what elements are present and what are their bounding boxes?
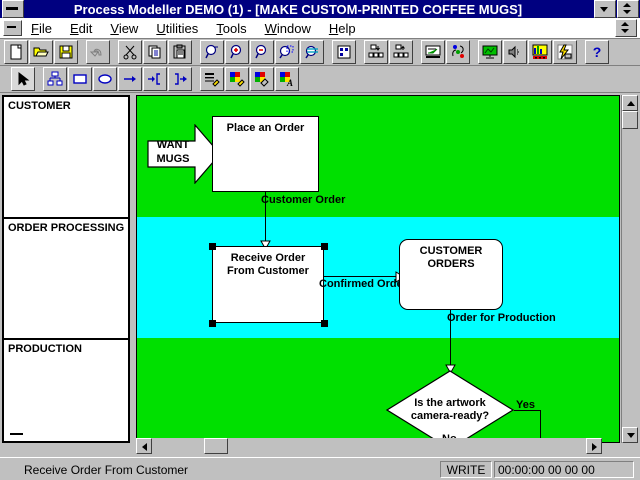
customer-orders-label: CUSTOMER ORDERS: [420, 245, 483, 271]
zoom-normal-icon[interactable]: [200, 40, 224, 64]
confirmed-order-edge-line[interactable]: [324, 276, 404, 277]
save-floppy-icon[interactable]: [54, 40, 78, 64]
band-production: [137, 338, 619, 442]
status-time: 00:00:00 00 00 00: [494, 461, 634, 478]
zoom-out-icon[interactable]: [250, 40, 274, 64]
scroll-right-arrow-icon: [592, 443, 597, 451]
rectangle-shape-icon[interactable]: [68, 67, 92, 91]
toolbar-primary: ?: [0, 39, 640, 66]
window-title: Process Modeller DEMO (1) - [MAKE CUSTOM…: [2, 2, 594, 17]
scroll-down-button[interactable]: [622, 427, 638, 443]
customer-order-label: Customer Order: [261, 194, 345, 206]
fill-color-icon[interactable]: [250, 67, 274, 91]
toolbar-drawing: A: [0, 66, 640, 93]
title-bar: Process Modeller DEMO (1) - [MAKE CUSTOM…: [0, 0, 640, 18]
link-out-icon[interactable]: [168, 67, 192, 91]
place-an-order-node[interactable]: Place an Order: [212, 116, 319, 192]
new-document-icon[interactable]: [4, 40, 28, 64]
minimize-button[interactable]: [594, 0, 616, 18]
page-layout-icon[interactable]: [332, 40, 356, 64]
child-restore-button[interactable]: [615, 19, 637, 37]
confirmed-order-label: Confirmed Order: [319, 278, 407, 290]
selection-handle-br[interactable]: [321, 320, 328, 327]
paste-clipboard-icon[interactable]: [168, 40, 192, 64]
status-bar: Receive Order From Customer WRITE 00:00:…: [0, 457, 640, 480]
lane-label-production[interactable]: PRODUCTION: [4, 340, 128, 440]
cut-scissors-icon[interactable]: [118, 40, 142, 64]
ellipse-shape-icon[interactable]: [93, 67, 117, 91]
decision-yes-label: Yes: [516, 399, 535, 411]
presentation-screen-icon[interactable]: [478, 40, 502, 64]
status-message: Receive Order From Customer: [4, 461, 438, 478]
zoom-selection-icon[interactable]: [275, 40, 299, 64]
text-style-icon[interactable]: A: [275, 67, 299, 91]
application-window: Process Modeller DEMO (1) - [MAKE CUSTOM…: [0, 0, 640, 480]
lane-label-order-processing[interactable]: ORDER PROCESSING: [4, 219, 128, 339]
place-an-order-label: Place an Order: [227, 122, 305, 135]
pen-color-icon[interactable]: [225, 67, 249, 91]
animation-player-icon[interactable]: [528, 40, 552, 64]
zoom-in-icon[interactable]: [225, 40, 249, 64]
copy-pages-icon[interactable]: [143, 40, 167, 64]
menu-edit[interactable]: Edit: [61, 21, 101, 36]
receive-order-node[interactable]: Receive Order From Customer: [212, 246, 324, 323]
chart-report-icon[interactable]: [421, 40, 445, 64]
vertical-scrollbar[interactable]: [621, 95, 638, 443]
want-mugs-label: WANTMUGS: [149, 138, 197, 166]
want-mugs-arrow[interactable]: WANTMUGS: [147, 124, 222, 184]
diagram-canvas[interactable]: WANTMUGS Place an Order Customer Order R…: [136, 95, 620, 443]
vertical-scroll-track[interactable]: [622, 111, 638, 427]
undo-arrow-icon[interactable]: [86, 40, 110, 64]
menu-bar: File Edit View Utilities Tools Window He…: [0, 18, 640, 39]
menu-help[interactable]: Help: [320, 21, 365, 36]
selection-handle-tl[interactable]: [209, 243, 216, 250]
org-tree-icon[interactable]: [43, 67, 67, 91]
connector-arrow-icon[interactable]: [118, 67, 142, 91]
menu-view[interactable]: View: [101, 21, 147, 36]
swimlane-label-panel: CUSTOMER ORDER PROCESSING PRODUCTION: [2, 95, 130, 443]
scroll-down-arrow-icon: [627, 433, 635, 438]
link-in-icon[interactable]: [143, 67, 167, 91]
order-for-production-label: Order for Production: [447, 312, 556, 324]
vertical-scroll-thumb[interactable]: [622, 111, 638, 129]
scroll-up-arrow-icon: [627, 101, 635, 106]
menu-file[interactable]: File: [22, 21, 61, 36]
selection-handle-tr[interactable]: [321, 243, 328, 250]
artwork-decision-text: Is the artwork camera-ready?: [411, 397, 489, 423]
select-pointer-icon[interactable]: [11, 67, 35, 91]
customer-orders-node[interactable]: CUSTOMER ORDERS: [399, 239, 503, 310]
zoom-fit-icon[interactable]: [300, 40, 324, 64]
scroll-right-button[interactable]: [586, 438, 602, 454]
simulation-icon[interactable]: [446, 40, 470, 64]
ascend-level-icon[interactable]: [389, 40, 413, 64]
order-for-production-arrowhead: [445, 361, 456, 370]
horizontal-scrollbar[interactable]: [136, 438, 602, 454]
run-lightning-icon[interactable]: [553, 40, 577, 64]
restore-button[interactable]: [617, 0, 639, 18]
svg-text:?: ?: [593, 44, 602, 60]
receive-order-label: Receive Order From Customer: [227, 252, 309, 278]
status-mode: WRITE: [440, 461, 492, 478]
menu-window[interactable]: Window: [256, 21, 320, 36]
line-style-icon[interactable]: [200, 67, 224, 91]
lane-resize-handle[interactable]: [10, 433, 23, 435]
help-question-icon[interactable]: ?: [585, 40, 609, 64]
system-menu-icon[interactable]: [2, 0, 24, 18]
selection-handle-bl[interactable]: [209, 320, 216, 327]
scroll-left-arrow-icon: [142, 443, 147, 451]
svg-text:A: A: [286, 78, 293, 87]
lane-label-customer[interactable]: CUSTOMER: [4, 97, 128, 217]
descend-level-icon[interactable]: [364, 40, 388, 64]
scroll-left-button[interactable]: [136, 438, 152, 454]
sound-speaker-icon[interactable]: [503, 40, 527, 64]
open-folder-icon[interactable]: [29, 40, 53, 64]
menu-utilities[interactable]: Utilities: [147, 21, 207, 36]
menu-tools[interactable]: Tools: [207, 21, 255, 36]
document-workspace: CUSTOMER ORDER PROCESSING PRODUCTION WAN…: [0, 93, 640, 456]
horizontal-scroll-thumb[interactable]: [204, 438, 228, 454]
scroll-up-button[interactable]: [622, 95, 638, 111]
customer-order-arrowhead: [260, 237, 271, 246]
child-system-menu-icon[interactable]: [3, 20, 22, 36]
